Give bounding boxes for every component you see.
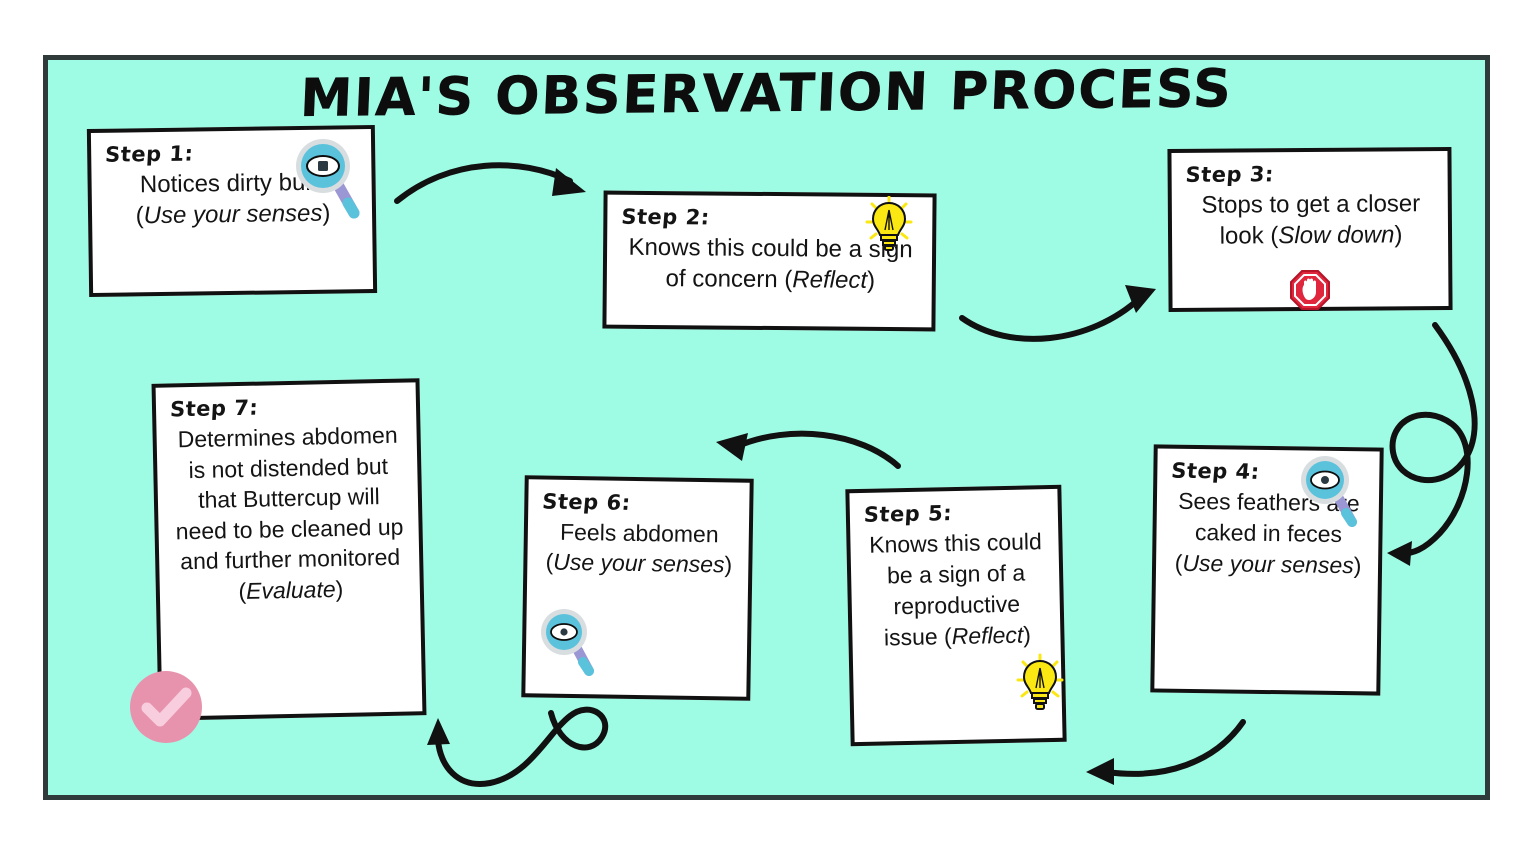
- step-6-text: Feels abdomen(Use your senses): [541, 516, 737, 580]
- step-7-label: Step 7:: [169, 393, 404, 422]
- step-6-label: Step 6:: [541, 490, 738, 517]
- magnifier-eye-icon: [292, 137, 364, 219]
- lightbulb-icon: [865, 196, 913, 252]
- step-3-text: Stops to get a closer look (Slow down): [1186, 188, 1436, 252]
- magnifier-eye-icon: [1298, 455, 1360, 527]
- magnifier-eye-icon: [539, 608, 597, 676]
- step-7-text: Determines abdomen is not distended but …: [170, 420, 408, 608]
- lightbulb-icon: [1016, 653, 1064, 711]
- step-5-label: Step 5:: [863, 499, 1046, 527]
- stop-hand-icon: [1290, 270, 1330, 310]
- pink-check-badge-icon: [129, 670, 203, 744]
- step-3-label: Step 3:: [1185, 161, 1437, 187]
- step-5-text: Knows this could be a sign of a reproduc…: [864, 526, 1049, 654]
- poster-canvas: MIA'S OBSERVATION PROCESS: [0, 0, 1536, 864]
